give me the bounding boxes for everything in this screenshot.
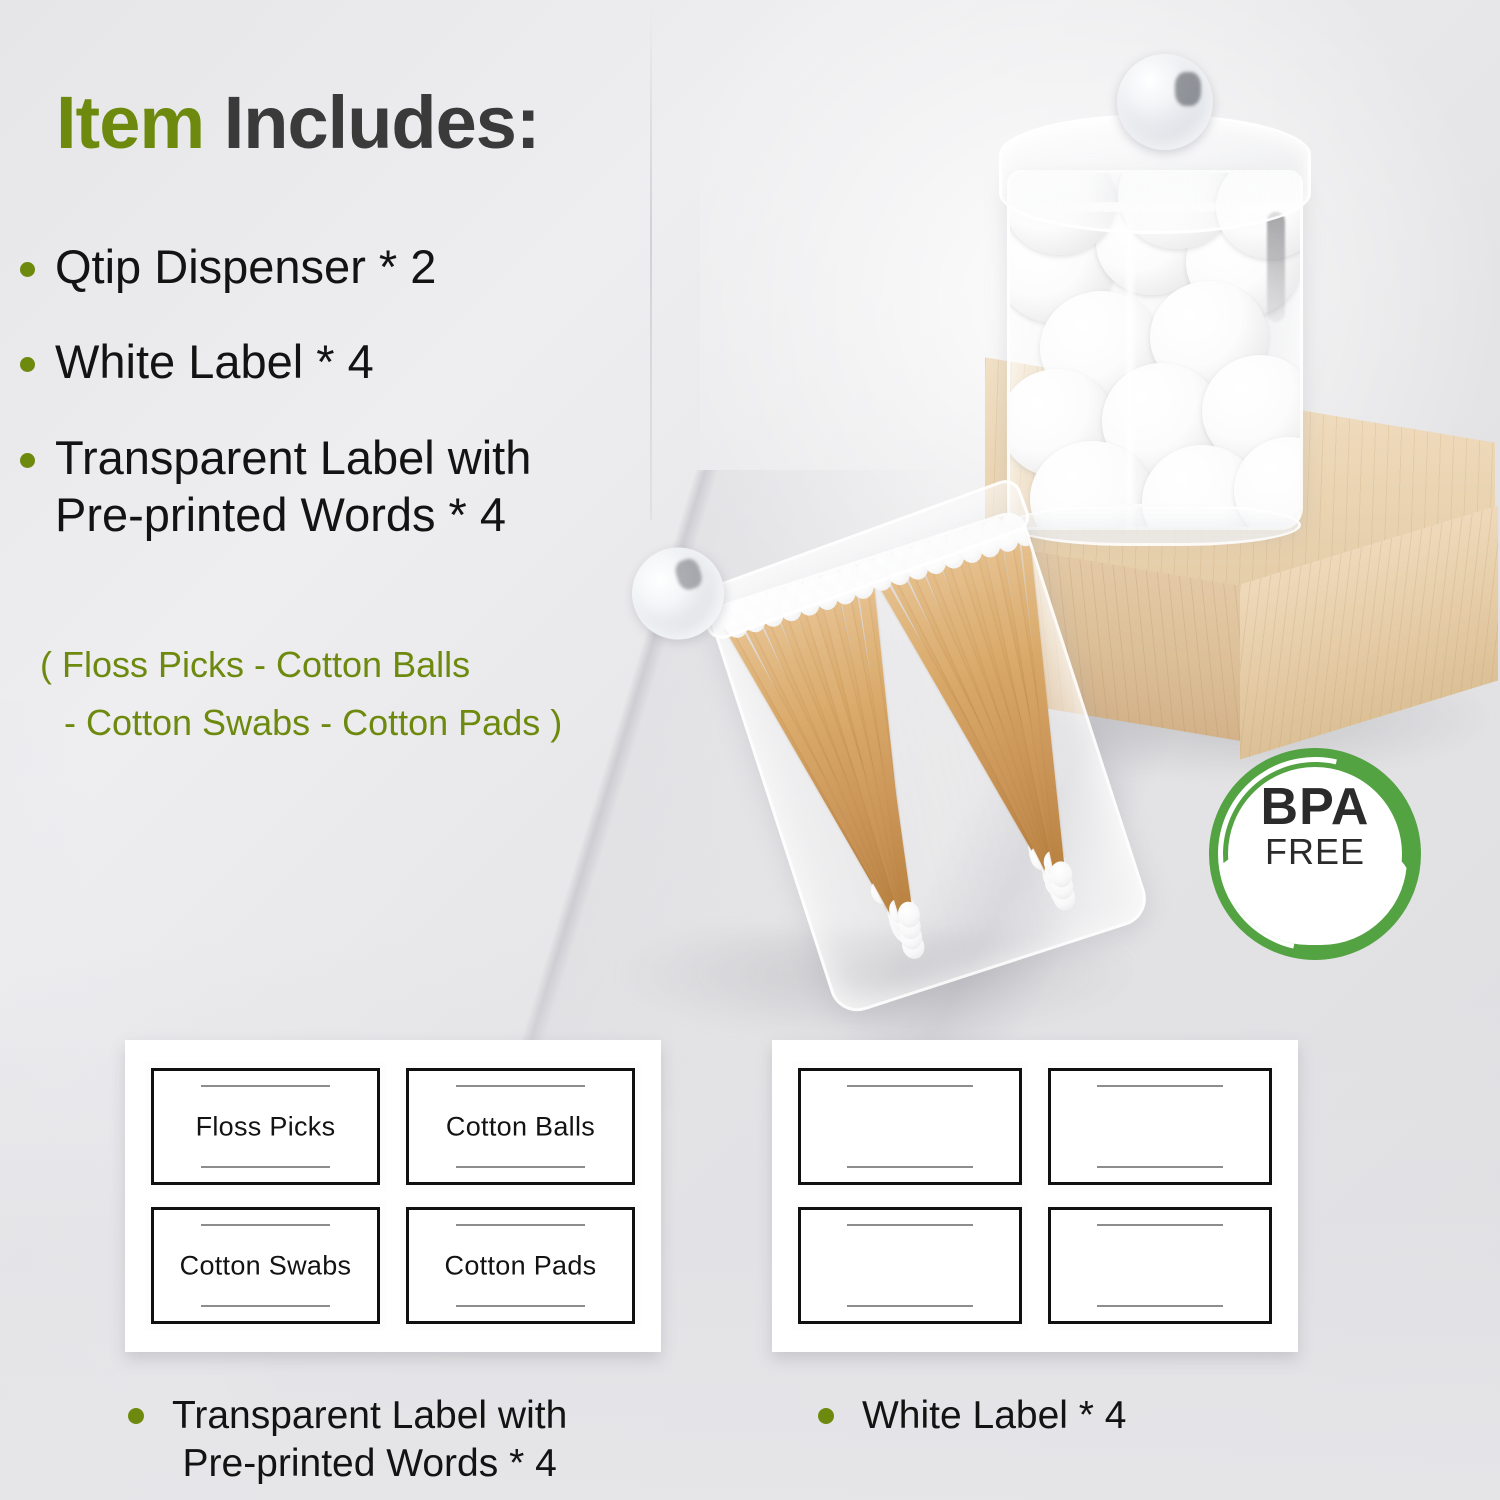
bpa-badge-line-1: BPA [1209,782,1421,833]
label-rule-bottom [201,1166,330,1168]
preprinted-words-line-2: - Cotton Swabs - Cotton Pads ) [64,694,660,752]
label-card-text: Cotton Pads [409,1250,632,1281]
bullet-dot-icon [128,1408,144,1424]
transparent-label-caption: Transparent Label withPre-printed Words … [128,1392,688,1487]
bullet-dot-icon [20,262,35,277]
label-rule-top [847,1224,973,1226]
label-card [1048,1207,1272,1324]
bpa-badge-line-2: FREE [1209,833,1421,871]
white-label-sheet [772,1040,1298,1352]
label-rule-bottom [1097,1305,1223,1307]
item-includes-list: Qtip Dispenser * 2 White Label * 4 Trans… [20,238,710,581]
label-rule-bottom [201,1305,330,1307]
label-slot [1042,1062,1278,1191]
label-card: Floss Picks [151,1068,380,1185]
list-item: White Label * 4 [20,333,710,390]
label-slot [792,1062,1028,1191]
label-rule-bottom [847,1166,973,1168]
label-card [798,1207,1022,1324]
page-title: Item Includes: [56,86,540,160]
label-rule-bottom [1097,1166,1223,1168]
label-slot: Floss Picks [145,1062,386,1191]
label-card: Cotton Pads [406,1207,635,1324]
bullet-dot-icon [20,357,35,372]
label-card [1048,1068,1272,1185]
list-item: Transparent Label withPre-printed Words … [20,429,710,544]
preprinted-words-line-1: ( Floss Picks - Cotton Balls [40,636,660,694]
caption-label: White Label * 4 [862,1392,1127,1440]
label-slot: Cotton Pads [400,1201,641,1330]
white-label-caption: White Label * 4 [818,1392,1238,1440]
bullet-dot-icon [20,453,35,468]
label-slot [792,1201,1028,1330]
label-rule-top [1097,1224,1223,1226]
label-rule-top [1097,1085,1223,1087]
label-card-text: Cotton Balls [409,1111,632,1142]
label-rule-bottom [456,1166,585,1168]
preprinted-words-note: ( Floss Picks - Cotton Balls - Cotton Sw… [40,636,660,751]
label-slot: Cotton Balls [400,1062,641,1191]
page-title-dark: Includes: [224,81,540,164]
list-item-label: Transparent Label withPre-printed Words … [55,429,531,544]
label-card [798,1068,1022,1185]
label-slot: Cotton Swabs [145,1201,386,1330]
label-slot [1042,1201,1278,1330]
list-item-label: Qtip Dispenser * 2 [55,238,436,295]
label-card: Cotton Swabs [151,1207,380,1324]
label-rule-bottom [847,1305,973,1307]
label-rule-top [201,1085,330,1087]
label-rule-bottom [456,1305,585,1307]
label-card-text: Floss Picks [154,1111,377,1142]
label-rule-top [456,1085,585,1087]
bullet-dot-icon [818,1408,834,1424]
label-card: Cotton Balls [406,1068,635,1185]
label-rule-top [201,1224,330,1226]
jar-lid-knob [1117,54,1213,150]
page-title-green: Item [56,81,224,164]
label-rule-top [456,1224,585,1226]
list-item-label: White Label * 4 [55,333,374,390]
bpa-badge-text: BPA FREE [1209,782,1421,871]
bpa-free-badge-icon: BPA FREE [1209,748,1421,960]
label-rule-top [847,1085,973,1087]
label-card-text: Cotton Swabs [154,1250,377,1281]
jar-edge-reflection [1267,212,1285,322]
list-item: Qtip Dispenser * 2 [20,238,710,295]
transparent-label-sheet: Floss Picks Cotton Balls Cotton Swabs Co… [125,1040,661,1352]
caption-label: Transparent Label withPre-printed Words … [172,1392,567,1487]
